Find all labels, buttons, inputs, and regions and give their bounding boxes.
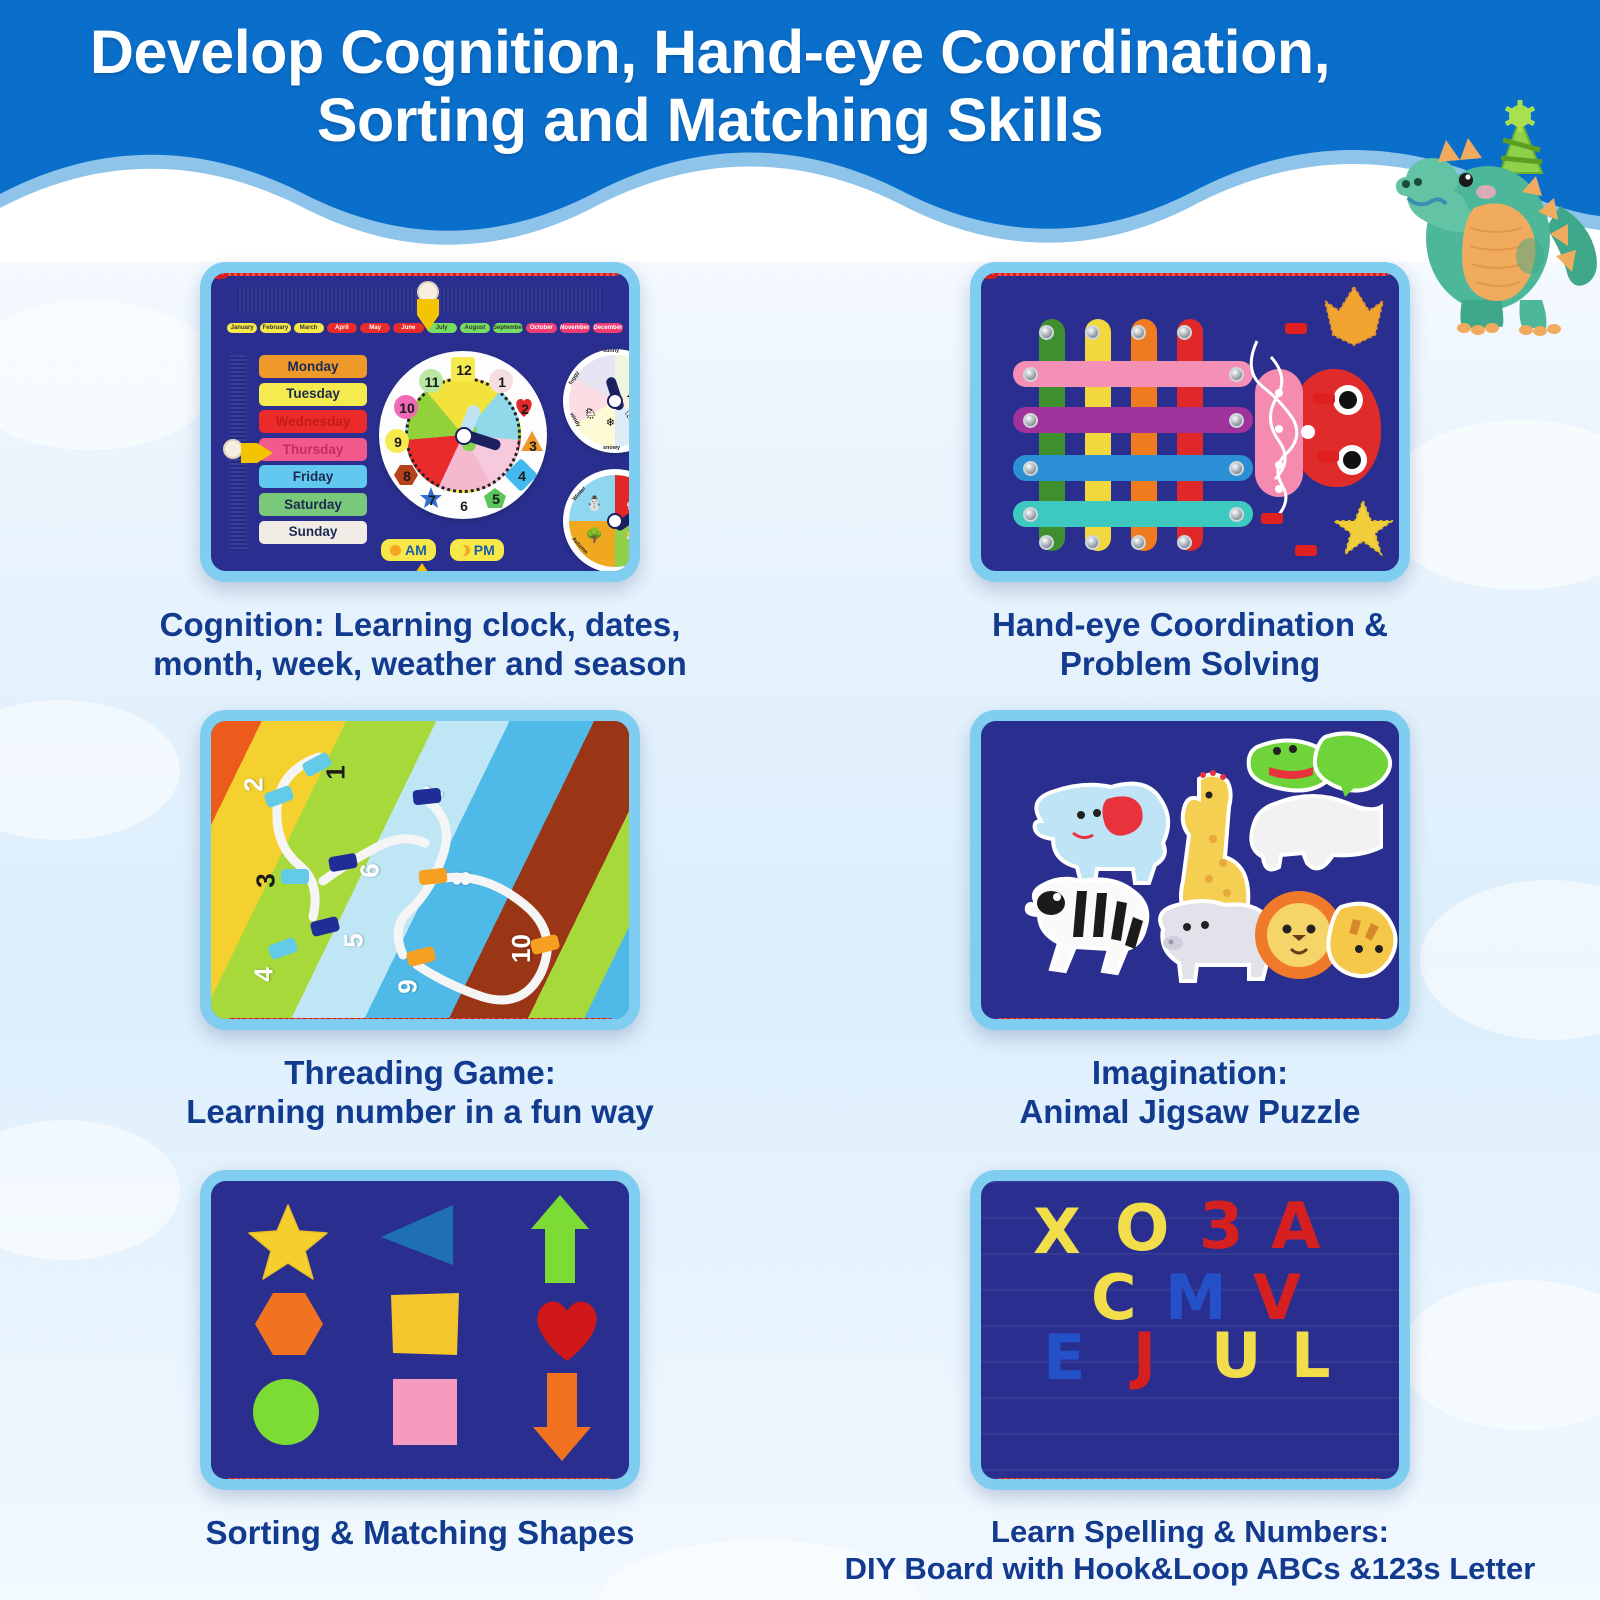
letter-c[interactable]: C [1091, 1267, 1137, 1329]
pointer-arrow-left-icon[interactable] [241, 441, 273, 465]
month-chip-march[interactable]: March [294, 323, 324, 333]
month-chip-september[interactable]: September [493, 323, 523, 333]
weekday-chip-tuesday[interactable]: Tuesday [259, 383, 367, 406]
letter-x[interactable]: X [1033, 1201, 1081, 1263]
blossom-icon: 🌸 [626, 499, 640, 512]
clock-face[interactable]: 12 1 2 3 4 5 6 [379, 351, 547, 519]
weekday-chip-monday[interactable]: Monday [259, 355, 367, 378]
crab-pupil-left [1339, 391, 1357, 409]
month-chip-october[interactable]: October [526, 323, 556, 333]
panel-cognition: JanuaryFebruaryMarchAprilMayJuneJulyAugu… [50, 262, 790, 684]
rivet [1131, 535, 1146, 550]
weekday-chip-sunday[interactable]: Sunday [259, 521, 367, 544]
clock-number-10: 10 [394, 395, 420, 421]
month-chip-may[interactable]: May [360, 323, 390, 333]
caption-cognition: Cognition: Learning clock, dates, month,… [50, 606, 790, 684]
caption-cognition-line1: Cognition: Learning clock, dates, [50, 606, 790, 645]
zipper-bottom[interactable] [225, 1018, 615, 1030]
sun-icon-small [390, 545, 401, 556]
clock-number-6: 6 [451, 493, 477, 519]
crab-eye-right [1337, 445, 1367, 475]
panel-shapes: Sorting & Matching Shapes [50, 1170, 790, 1553]
season-label-summer: Summer [638, 536, 640, 556]
sun-cloud-icon: ⛅ [624, 528, 639, 542]
caption-imagination: Imagination: Animal Jigsaw Puzzle [820, 1054, 1560, 1132]
clock-number-7: 7 [419, 487, 445, 513]
crab-pupil-right [1343, 451, 1361, 469]
weather-label-snowy: snowy [603, 445, 620, 451]
weekday-chip-wednesday[interactable]: Wednesday [259, 410, 367, 433]
rivet [1229, 367, 1244, 382]
zipper-bottom[interactable] [995, 1018, 1385, 1030]
lacing-string-icon[interactable] [1209, 331, 1329, 531]
pointer-arrow-top-icon[interactable] [413, 299, 443, 333]
snow-icon: ❄ [606, 416, 615, 429]
caption-shapes-line1: Sorting & Matching Shapes [50, 1514, 790, 1553]
rivet [1085, 535, 1100, 550]
cloud-icon: ☁ [626, 386, 638, 400]
caption-threading-line2: Learning number in a fun way [50, 1093, 790, 1132]
rivet [1085, 325, 1100, 340]
ampm-controls[interactable]: AM PM [381, 539, 504, 561]
shape-rectangle[interactable] [391, 1377, 459, 1447]
shape-square[interactable] [389, 1291, 461, 1357]
panels-grid: JanuaryFebruaryMarchAprilMayJuneJulyAugu… [0, 262, 1600, 1600]
season-wheel-pivot [607, 513, 623, 529]
tree-icon: 🌳 [586, 527, 603, 544]
caption-cognition-line2: month, week, weather and season [50, 645, 790, 684]
letter-e[interactable]: E [1043, 1327, 1085, 1389]
clock-number-9: 9 [385, 429, 411, 455]
yellow-star-icon [1333, 499, 1393, 557]
clock-number-8: 8 [394, 463, 420, 489]
pointer-arrow-bottom-icon[interactable] [407, 561, 437, 582]
caption-hand-eye-line1: Hand-eye Coordination & [820, 606, 1560, 645]
rivet [1177, 535, 1192, 550]
crab-eye-left [1333, 385, 1363, 415]
panel-letters: X O 3 A C M V E J U L Learn Spelling & N… [820, 1170, 1560, 1587]
string-toggle[interactable] [1261, 513, 1283, 524]
zipper-pull-icon[interactable] [977, 262, 999, 279]
bead-8[interactable] [418, 868, 447, 886]
threading-board[interactable]: 1 2 3 4 5 6 7 8 9 10 [200, 710, 640, 1030]
zipper-top[interactable] [219, 263, 621, 276]
weather-wheel-pivot [607, 393, 623, 409]
orange-fin-icon [1323, 285, 1385, 347]
header-wave-divider [0, 132, 1600, 262]
shape-circle[interactable] [251, 1377, 321, 1447]
caption-hand-eye: Hand-eye Coordination & Problem Solving [820, 606, 1560, 684]
month-chip-august[interactable]: August [460, 323, 490, 333]
bead-3[interactable] [281, 869, 309, 884]
shape-star[interactable] [247, 1203, 329, 1281]
bead-7[interactable] [412, 788, 441, 806]
rivet [1039, 325, 1054, 340]
season-wheel[interactable]: ⛄ 🌸 ⛅ 🌳 Winter Spring Summer Autumn [563, 469, 640, 573]
zipper-bottom[interactable] [225, 1478, 615, 1490]
rivet [1039, 535, 1054, 550]
caption-imagination-line2: Animal Jigsaw Puzzle [820, 1093, 1560, 1132]
weather-label-sunny: sunny [603, 348, 619, 354]
rivet [1131, 325, 1146, 340]
header-banner: Develop Cognition, Hand-eye Coordination… [0, 0, 1600, 262]
cognition-board[interactable]: JanuaryFebruaryMarchAprilMayJuneJulyAugu… [200, 262, 640, 582]
rivet [1177, 325, 1192, 340]
shape-hexagon[interactable] [253, 1291, 325, 1357]
caption-letters: Learn Spelling & Numbers: DIY Board with… [820, 1514, 1560, 1587]
crocodile-piece-2 [1315, 733, 1390, 797]
caption-threading: Threading Game: Learning number in a fun… [50, 1054, 790, 1132]
month-chip-december[interactable]: December [593, 323, 623, 333]
white-animal-outline-piece [1251, 796, 1381, 869]
rivet [1023, 367, 1038, 382]
string-toggle[interactable] [1285, 323, 1307, 334]
panel-imagination: Imagination: Animal Jigsaw Puzzle [820, 710, 1560, 1132]
caption-threading-line1: Threading Game: [50, 1054, 790, 1093]
caption-letters-line1: Learn Spelling & Numbers: [820, 1514, 1560, 1551]
month-chip-november[interactable]: November [560, 323, 590, 333]
shape-arrow-down[interactable] [529, 1371, 595, 1463]
animal-puzzle-pieces[interactable] [981, 721, 1399, 1019]
caption-letters-line2: DIY Board with Hook&Loop ABCs &123s Lett… [820, 1551, 1560, 1588]
rivet [1023, 413, 1038, 428]
caption-imagination-line1: Imagination: [820, 1054, 1560, 1093]
rivet [1023, 461, 1038, 476]
letter-a[interactable]: A [1271, 1195, 1321, 1259]
clock-number-4: 4 [509, 463, 535, 489]
pm-label: PM [474, 542, 495, 558]
zipper-top[interactable] [989, 263, 1391, 276]
string-toggle[interactable] [1295, 545, 1317, 556]
clock-number-1: 1 [489, 369, 515, 395]
pm-button[interactable]: PM [450, 539, 504, 561]
rain-cloud-icon: 🌧 [624, 408, 638, 421]
zipper-pull-icon[interactable] [207, 262, 229, 279]
panel-threading: 1 2 3 4 5 6 7 8 9 10 Threading Game: Lea… [50, 710, 790, 1132]
clock-number-3: 3 [520, 433, 546, 459]
month-chip-february[interactable]: February [260, 323, 290, 333]
page-title-line1: Develop Cognition, Hand-eye Coordination… [0, 18, 1420, 86]
rivet [1229, 461, 1244, 476]
caption-shapes: Sorting & Matching Shapes [50, 1514, 790, 1553]
zebra-piece [1027, 879, 1148, 973]
shapes-board[interactable] [200, 1170, 640, 1490]
month-chip-january[interactable]: January [227, 323, 257, 333]
month-chip-april[interactable]: April [327, 323, 357, 333]
clock-number-5: 5 [483, 486, 509, 512]
letter-j[interactable]: J [1133, 1325, 1156, 1387]
rivet [1229, 507, 1244, 522]
letter-o[interactable]: O [1115, 1197, 1169, 1261]
caption-hand-eye-line2: Problem Solving [820, 645, 1560, 684]
weekday-chip-friday[interactable]: Friday [259, 465, 367, 488]
letter-3[interactable]: 3 [1199, 1195, 1244, 1259]
clock-number-2: 2 [512, 396, 538, 422]
am-button[interactable]: AM [381, 539, 436, 561]
shape-heart[interactable] [529, 1291, 605, 1363]
clock-number-11: 11 [419, 369, 445, 395]
elephant-piece [1035, 784, 1169, 883]
shape-arrow-up[interactable] [527, 1193, 593, 1285]
weather-wheel-face: ☀ ☁ 🌧 ❄ 🌦 [569, 355, 640, 447]
string-toggle[interactable] [1313, 393, 1335, 404]
string-toggle[interactable] [1317, 451, 1339, 462]
moon-icon-small [459, 545, 470, 556]
wind-cloud-icon: 🌦 [584, 407, 598, 420]
rivet [1023, 507, 1038, 522]
hand-eye-board[interactable] [970, 262, 1410, 582]
clock-number-12: 12 [451, 357, 477, 383]
snowman-icon: ⛄ [586, 495, 603, 512]
letters-board[interactable]: X O 3 A C M V E J U L [970, 1170, 1410, 1490]
imagination-board[interactable] [970, 710, 1410, 1030]
am-label: AM [405, 542, 427, 558]
shape-triangle[interactable] [379, 1203, 455, 1271]
rivet [1229, 413, 1244, 428]
weekday-list[interactable]: MondayTuesdayWednesdayThursdayFridaySatu… [259, 355, 367, 548]
weekday-chip-thursday[interactable]: Thursday [259, 438, 367, 461]
letter-l[interactable]: L [1291, 1325, 1331, 1387]
zipper-bottom[interactable] [995, 1478, 1385, 1490]
tiger-piece [1328, 904, 1395, 976]
weather-wheel[interactable]: ☀ ☁ 🌧 ❄ 🌦 sunny cloudy rainy snowy windy… [563, 349, 640, 453]
letter-u[interactable]: U [1211, 1325, 1261, 1387]
panel-hand-eye: Hand-eye Coordination & Problem Solving [820, 262, 1560, 684]
clock-pivot [455, 427, 473, 445]
button-left-icon[interactable] [223, 439, 243, 459]
weekday-chip-saturday[interactable]: Saturday [259, 493, 367, 516]
